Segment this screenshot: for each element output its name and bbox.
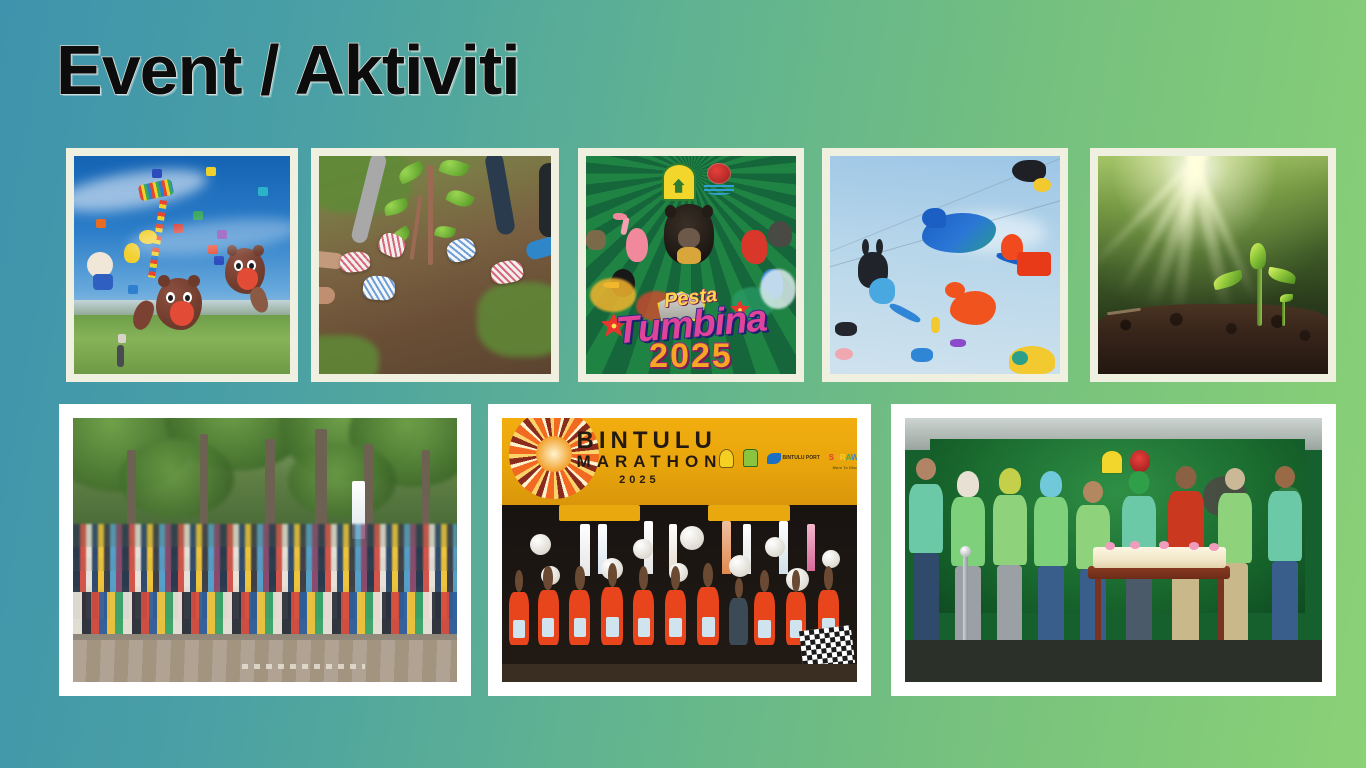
photo-kite-festival <box>74 156 290 374</box>
attendee <box>993 468 1027 661</box>
red-globe-logo <box>704 163 734 197</box>
photo-tile-pesta-tumbina[interactable]: Pesta Tumbina 2025 <box>578 148 804 382</box>
page-title: Event / Aktiviti <box>56 34 520 108</box>
photo-seedling <box>1098 156 1328 374</box>
photo-tile-bintulu-marathon[interactable]: BINTULU MARATHON 2025 BINTULU PORT SARAW… <box>488 404 871 696</box>
photo-tile-animal-kites[interactable] <box>822 148 1068 382</box>
photo-cake-cutting <box>905 418 1322 682</box>
photo-tile-cake-cutting[interactable] <box>891 404 1336 696</box>
photo-tile-kite-festival[interactable] <box>66 148 298 382</box>
green-council-logo <box>743 449 758 467</box>
ceremonial-cake <box>1093 547 1226 568</box>
parrot-graphic <box>741 230 767 264</box>
photo-tree-planting <box>319 156 551 374</box>
bintulu-crest-logo <box>662 163 696 201</box>
chipmunk-kite <box>156 278 202 330</box>
attendee <box>1034 471 1068 661</box>
flamingo-graphic <box>626 228 648 262</box>
photo-tile-tree-planting[interactable] <box>311 148 559 382</box>
photo-tile-seedling[interactable] <box>1090 148 1336 382</box>
photo-animal-kites <box>830 156 1060 374</box>
attendee <box>909 460 943 661</box>
photo-tile-group-run[interactable] <box>59 404 471 696</box>
marathon-title-line2: MARATHON <box>577 452 723 472</box>
marathon-title-year: 2025 <box>619 474 659 486</box>
red-globe-logo <box>1130 450 1150 472</box>
bintulu-port-label: BINTULU PORT <box>783 455 820 461</box>
bintulu-port-logo: BINTULU PORT <box>767 453 820 464</box>
photo-group-run <box>73 418 457 682</box>
photo-bintulu-marathon: BINTULU MARATHON 2025 BINTULU PORT SARAW… <box>502 418 857 682</box>
marathon-title-line1: BINTULU <box>577 427 717 455</box>
photo-pesta-tumbina-poster: Pesta Tumbina 2025 <box>586 156 796 374</box>
sarawak-logo: SARAWAK More To Discover <box>829 447 857 470</box>
bintulu-crest-logo <box>1101 450 1123 474</box>
bintulu-crest-logo <box>719 449 734 468</box>
sarawak-tagline: More To Discover <box>829 465 857 470</box>
marathon-sponsor-row: BINTULU PORT SARAWAK More To Discover <box>719 447 857 470</box>
marathon-arch: BINTULU MARATHON 2025 BINTULU PORT SARAW… <box>502 418 857 505</box>
slide-root: Event / Aktiviti <box>0 0 1366 768</box>
sun-bear-graphic <box>664 204 714 264</box>
attendee <box>1268 466 1302 661</box>
poster-line-year: 2025 <box>649 337 733 374</box>
